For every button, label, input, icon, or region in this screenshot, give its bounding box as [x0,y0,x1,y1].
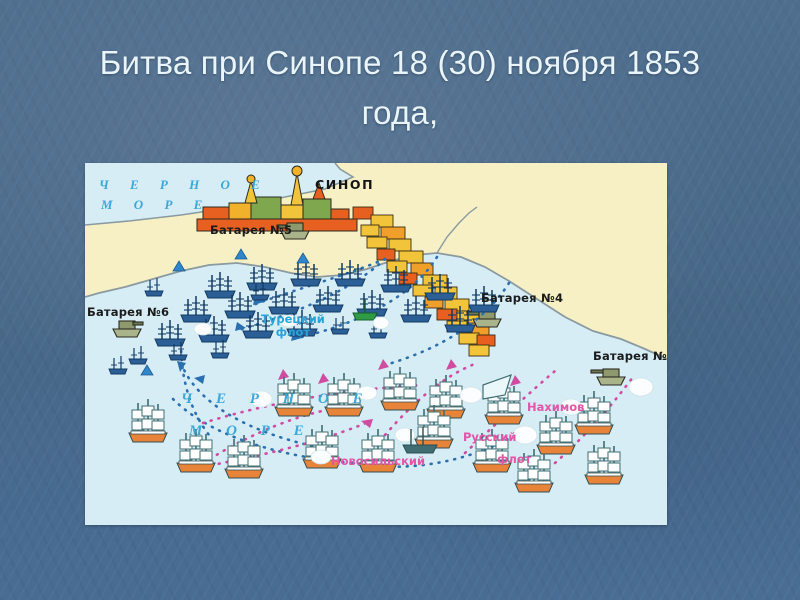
russian-ships [129,367,623,492]
page-title: Битва при Синопе 18 (30) ноября 1853 год… [0,38,800,138]
title-line-2: года, [0,88,800,138]
russian-fleet-layer [85,163,667,525]
title-line-1: Битва при Синопе 18 (30) ноября 1853 [100,44,701,81]
battle-map-image: Ч Е Р Н О Е М О Р Е СИНОП Батарея №5 Бат… [85,163,667,525]
presentation-slide: Битва при Синопе 18 (30) ноября 1853 год… [0,0,800,600]
